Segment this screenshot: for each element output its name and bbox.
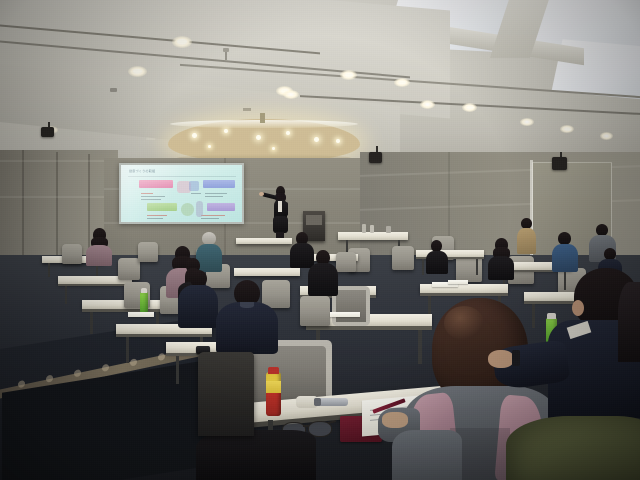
table-leg xyxy=(176,356,179,384)
table-edge xyxy=(420,293,508,296)
downlight xyxy=(283,90,299,99)
wristwatch xyxy=(512,350,520,366)
projected-slide: 健康づくりの取組 xyxy=(121,165,242,222)
downlight-core xyxy=(565,128,571,131)
presenter-arm-raised xyxy=(262,192,278,200)
attendee-a10 xyxy=(486,238,516,280)
ceiling-speaker xyxy=(552,157,567,170)
downlight xyxy=(420,100,435,109)
red-bottle xyxy=(266,372,281,416)
head-table-bottle xyxy=(362,224,366,233)
thermos xyxy=(318,398,348,406)
attendee-a11-sleeve xyxy=(392,430,462,480)
presenter-hand xyxy=(259,192,264,196)
head-table xyxy=(338,232,408,240)
table-leg xyxy=(48,263,50,277)
handout xyxy=(448,280,468,284)
table xyxy=(234,268,300,276)
thermos-cap xyxy=(314,398,321,406)
table-leg xyxy=(126,337,129,363)
table xyxy=(236,238,292,244)
chair[interactable] xyxy=(300,296,330,326)
chair[interactable] xyxy=(138,242,158,262)
ear xyxy=(572,300,584,316)
downlight-core xyxy=(345,73,353,77)
hand xyxy=(382,412,408,428)
collar xyxy=(240,302,254,308)
seminar-room-photo: 健康づくりの取組 xyxy=(0,0,640,480)
ceiling-sensor xyxy=(225,52,227,60)
attendee-a9 xyxy=(424,240,450,274)
attendee-foreground-left xyxy=(196,430,316,480)
ceiling-sensor xyxy=(243,108,251,111)
ceiling-sensor xyxy=(110,88,117,92)
attendee-a4 xyxy=(216,280,278,354)
foreground-chair-left xyxy=(198,352,254,436)
downlight-core xyxy=(177,39,187,44)
ceiling-speaker xyxy=(41,127,54,137)
table-edge xyxy=(58,284,132,286)
table-leg xyxy=(90,312,93,334)
bottle-cap xyxy=(141,288,147,293)
handout xyxy=(128,312,154,317)
table-leg xyxy=(476,259,478,275)
downlight xyxy=(600,132,613,140)
chair-seatback[interactable] xyxy=(336,290,366,322)
bottle-label xyxy=(266,381,281,393)
presenter-arm-lower xyxy=(284,202,288,216)
presenter-blouse xyxy=(278,201,282,212)
head-table-bottle xyxy=(386,226,391,233)
bottle-cap-red xyxy=(268,367,279,374)
ceiling-speaker xyxy=(369,152,382,163)
downlight-core xyxy=(467,106,474,109)
attendee-a5 xyxy=(176,270,220,328)
attendee-a14 xyxy=(84,228,114,266)
attendee-a6 xyxy=(550,232,580,272)
projection-screen: 健康づくりの取組 xyxy=(119,163,244,224)
handout xyxy=(330,312,360,317)
downlight xyxy=(520,118,534,126)
downlight-core xyxy=(133,69,142,73)
downlight-core xyxy=(399,81,406,84)
attendee-right-edge xyxy=(618,282,640,362)
presenter-skirt xyxy=(273,216,288,233)
chandelier xyxy=(168,119,360,163)
head-table-bottle xyxy=(370,225,374,233)
chair[interactable] xyxy=(392,246,414,270)
hair-highlight xyxy=(444,306,484,340)
attendee-a7 xyxy=(514,218,540,254)
chair[interactable] xyxy=(118,258,140,280)
table-edge xyxy=(116,334,212,337)
chandelier-stem xyxy=(260,113,265,123)
attendee-center-back2 xyxy=(306,250,340,296)
chair[interactable] xyxy=(62,244,82,264)
attendee-a13 xyxy=(506,416,640,480)
table-leg xyxy=(65,286,67,304)
av-cabinet-panel xyxy=(306,215,322,225)
hand xyxy=(488,350,514,368)
green-bottle xyxy=(140,292,148,314)
